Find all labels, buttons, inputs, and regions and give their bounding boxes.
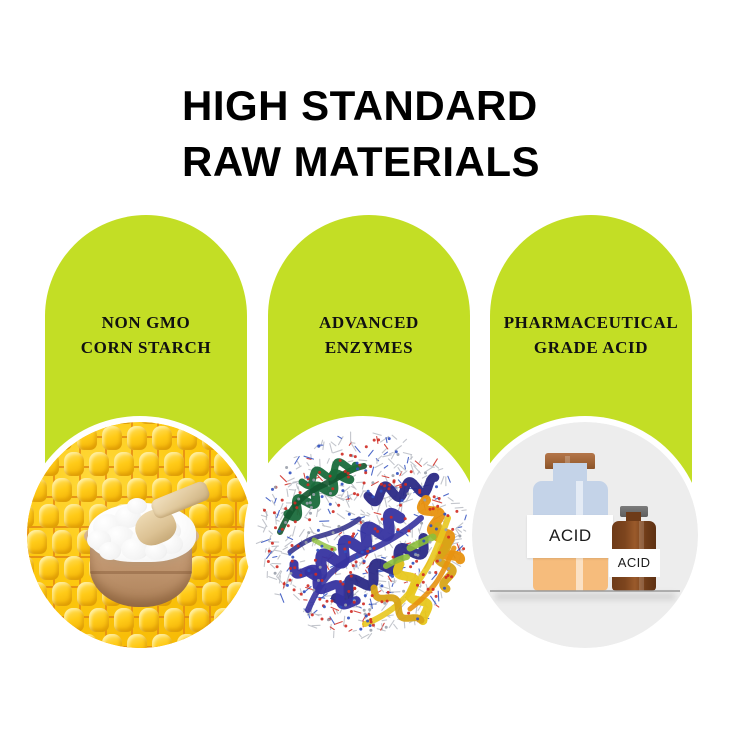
enzyme-molecule-render [250,422,476,648]
corn-starch-photo-inner [27,422,253,648]
card-label-pharmaceutical-acid: PHARMACEUTICAL GRADE ACID [478,310,704,360]
acid-bottles-illustration-inner: ACID ACID [472,422,698,648]
page-title: HIGH STANDARD RAW MATERIALS [182,78,722,190]
card-label-line-2: CORN STARCH [33,335,259,360]
small-bottle-label: ACID [609,549,660,577]
card-label-line-1: NON GMO [33,310,259,335]
infographic-canvas: HIGH STANDARD RAW MATERIALS NON GMO CORN… [0,0,750,740]
card-label-advanced-enzymes: ADVANCED ENZYMES [256,310,482,360]
card-label-line-1: ADVANCED [256,310,482,335]
big-bottle-label: ACID [527,515,613,558]
protein-ribbon-diagram [250,422,476,648]
card-label-line-2: GRADE ACID [478,335,704,360]
bottle-shadow [495,593,676,600]
bowl-band [90,571,192,574]
card-label-line-1: PHARMACEUTICAL [478,310,704,335]
card-label-line-2: ENZYMES [256,335,482,360]
card-label-corn-starch: NON GMO CORN STARCH [33,310,259,360]
corn-starch-photo [27,422,253,648]
bottle-shelf-line [490,590,680,592]
page-title-line-2: RAW MATERIALS [182,134,722,190]
acid-bottles-illustration: ACID ACID [472,422,698,648]
page-title-line-1: HIGH STANDARD [182,78,722,134]
enzyme-molecule-render-inner [250,422,476,648]
